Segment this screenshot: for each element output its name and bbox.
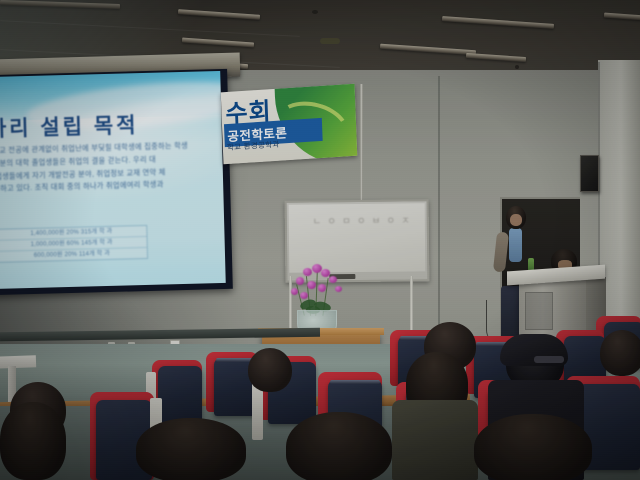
- ceiling-vent-icon: [312, 10, 318, 14]
- speaker-shirt: [509, 228, 522, 262]
- wall-speaker-icon: [580, 155, 599, 192]
- projection-screen: 동아리 설립 목적 현재 대학교 전공에 관계없이 취업난에 부딪힐 대학생에 …: [0, 71, 226, 289]
- wall-seam: [438, 76, 440, 346]
- audience-head: [136, 418, 246, 480]
- audience-head: [286, 412, 392, 480]
- lecture-hall-photo: 동아리 설립 목적 현재 대학교 전공에 관계없이 취업난에 부딪힐 대학생에 …: [0, 0, 640, 480]
- orchid-bloom: [335, 286, 342, 292]
- audience-coat: [392, 400, 478, 480]
- orchid-bloom: [291, 288, 298, 295]
- ceiling-light-fixture: [604, 13, 640, 21]
- podium-front-panel: [525, 292, 553, 330]
- whiteboard-writing: ㄴ ㅇ ㅁ ㅇ ㅂ ㅇ ㅈ: [313, 213, 412, 227]
- orchid-bloom: [303, 268, 312, 276]
- banner-support-pole: [360, 84, 363, 206]
- speaker-face: [510, 214, 522, 226]
- seat-top-rail: [330, 380, 380, 384]
- orchid-bloom: [318, 284, 326, 292]
- orchid-bloom: [307, 281, 316, 289]
- event-banner: 수회 공전학토론 학교 환경공학과: [221, 84, 358, 165]
- whiteboard-stand-leg: [410, 276, 413, 336]
- cap-brim-icon: [534, 356, 564, 363]
- slide-body: 현재 대학교 전공에 관계없이 취업난에 부딪힐 대학생에 집중하는 학생 들은…: [0, 139, 222, 197]
- orchid-bloom: [329, 276, 337, 283]
- ceiling-sensor-icon: [515, 65, 519, 69]
- orchid-bloom: [296, 277, 304, 285]
- audience-head: [474, 414, 592, 480]
- ceiling-vent-icon: [320, 38, 340, 44]
- audience-head: [600, 330, 640, 376]
- audience-head: [0, 402, 66, 480]
- ceiling-light-fixture: [380, 44, 476, 56]
- orchid-bloom: [300, 292, 308, 299]
- ceiling-light-fixture: [442, 16, 554, 29]
- slide-table: 1,400,000원 20% 315개 학 과 1,000,000원 60% 1…: [0, 225, 148, 263]
- side-table: [0, 355, 36, 368]
- audience-head: [248, 348, 292, 392]
- seat-back: [158, 366, 202, 424]
- whiteboard-stand-leg: [289, 276, 292, 336]
- slide-title: 동아리 설립 목적: [0, 107, 225, 144]
- banner-department: 학교 환경공학과: [227, 139, 280, 153]
- orchid-bloom: [321, 269, 330, 277]
- ceiling-light-fixture: [466, 53, 526, 62]
